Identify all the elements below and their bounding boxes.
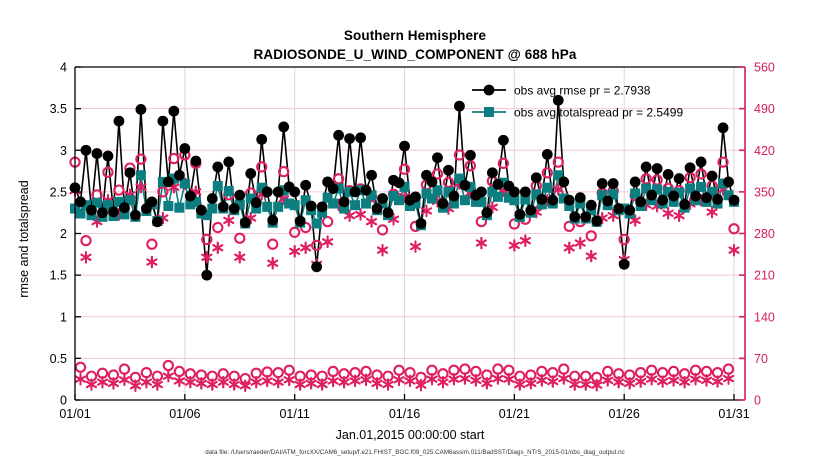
- y-tick-label-left: 3.5: [50, 102, 67, 116]
- marker-open-circle: [493, 364, 502, 373]
- marker-filled-square: [163, 201, 173, 211]
- marker-open-circle: [235, 234, 244, 243]
- marker-filled-circle: [657, 195, 668, 206]
- marker-filled-circle: [278, 122, 289, 133]
- marker-filled-circle: [674, 173, 685, 184]
- marker-filled-circle: [438, 198, 449, 209]
- y-tick-label-right: 490: [754, 102, 775, 116]
- marker-filled-circle: [481, 207, 492, 218]
- marker-filled-circle: [163, 176, 174, 187]
- marker-filled-circle: [108, 206, 119, 217]
- marker-open-circle: [76, 363, 85, 372]
- marker-filled-circle: [707, 171, 718, 182]
- marker-filled-circle: [465, 150, 476, 161]
- marker-open-circle: [147, 240, 156, 249]
- marker-filled-circle: [696, 157, 707, 168]
- marker-filled-circle: [410, 191, 421, 202]
- x-tick-label: 01/26: [609, 407, 640, 421]
- marker-filled-circle: [86, 205, 97, 216]
- y-tick-label-right: 70: [754, 352, 768, 366]
- marker-filled-circle: [81, 145, 92, 156]
- marker-filled-circle: [328, 183, 339, 194]
- marker-filled-circle: [218, 201, 229, 212]
- marker-open-circle: [466, 161, 475, 170]
- marker-open-circle: [274, 368, 283, 377]
- marker-filled-circle: [564, 195, 575, 206]
- marker-filled-square: [273, 202, 283, 212]
- marker-open-circle: [175, 367, 184, 376]
- marker-filled-circle: [663, 169, 674, 180]
- marker-filled-circle: [157, 116, 168, 127]
- marker-filled-circle: [569, 211, 580, 222]
- marker-filled-square: [328, 199, 338, 209]
- marker-filled-circle: [130, 210, 141, 221]
- x-tick-label: 01/21: [499, 407, 530, 421]
- y-tick-label-right: 0: [754, 394, 761, 408]
- marker-filled-circle: [498, 135, 509, 146]
- marker-filled-square: [224, 186, 234, 196]
- marker-filled-circle: [547, 195, 558, 206]
- marker-open-circle: [103, 168, 112, 177]
- marker-filled-circle: [372, 203, 383, 214]
- marker-filled-circle: [317, 201, 328, 212]
- marker-filled-circle: [355, 132, 366, 143]
- marker-filled-circle: [416, 218, 427, 229]
- marker-filled-circle: [311, 261, 322, 272]
- marker-filled-circle: [492, 179, 503, 190]
- marker-open-circle: [394, 366, 403, 375]
- marker-filled-circle: [201, 270, 212, 281]
- marker-filled-circle: [344, 133, 355, 144]
- marker-open-circle: [642, 174, 651, 183]
- marker-filled-square: [213, 181, 223, 191]
- marker-filled-circle: [245, 168, 256, 179]
- marker-filled-circle: [575, 192, 586, 203]
- marker-open-circle: [323, 217, 332, 226]
- marker-filled-circle: [361, 185, 372, 196]
- data-file-footer: data file: /Users/raeder/DAI/ATM_forcXX/…: [0, 449, 830, 456]
- marker-open-circle: [213, 223, 222, 232]
- marker-filled-circle: [723, 176, 734, 187]
- marker-open-circle: [543, 168, 552, 177]
- marker-filled-circle: [679, 199, 690, 210]
- marker-open-circle: [685, 173, 694, 182]
- marker-filled-circle: [718, 122, 729, 133]
- marker-filled-circle: [207, 193, 218, 204]
- marker-filled-circle: [701, 192, 712, 203]
- legend-label-totalspread: obs avg totalspread pr = 2.5499: [514, 106, 683, 120]
- y-tick-label-right: 350: [754, 185, 775, 199]
- marker-filled-square: [136, 170, 146, 180]
- marker-filled-circle: [580, 211, 591, 222]
- y-tick-label-right: 560: [754, 61, 775, 75]
- marker-filled-circle: [427, 176, 438, 187]
- x-tick-label: 01/01: [59, 407, 90, 421]
- marker-filled-circle: [597, 178, 608, 189]
- marker-open-circle: [81, 236, 90, 245]
- marker-filled-square: [460, 195, 470, 205]
- marker-filled-circle: [300, 180, 311, 191]
- x-axis-label: Jan.01,2015 00:00:00 start: [0, 428, 820, 442]
- marker-filled-circle: [75, 196, 86, 207]
- marker-filled-circle: [377, 193, 388, 204]
- marker-filled-circle: [729, 195, 740, 206]
- marker-filled-circle: [635, 196, 646, 207]
- marker-filled-square: [493, 192, 503, 202]
- marker-filled-circle: [608, 178, 619, 189]
- marker-filled-circle: [306, 201, 317, 212]
- y-tick-label-right: 280: [754, 227, 775, 241]
- marker-filled-square: [174, 203, 184, 213]
- y-tick-label-left: 2.5: [50, 185, 67, 199]
- marker-filled-circle: [223, 157, 234, 168]
- marker-filled-square: [207, 204, 217, 214]
- marker-open-circle: [120, 364, 129, 373]
- marker-filled-circle: [190, 156, 201, 167]
- marker-filled-circle: [339, 196, 350, 207]
- marker-open-circle: [142, 368, 151, 377]
- marker-filled-square: [484, 107, 494, 117]
- marker-filled-square: [394, 195, 404, 205]
- marker-filled-circle: [366, 170, 377, 181]
- marker-filled-circle: [520, 186, 531, 197]
- marker-filled-circle: [234, 190, 245, 201]
- marker-filled-circle: [668, 191, 679, 202]
- marker-filled-circle: [196, 205, 207, 216]
- marker-filled-square: [312, 219, 322, 229]
- y-tick-label-left: 0.5: [50, 352, 67, 366]
- legend-label-rmse: obs avg rmse pr = 2.7938: [514, 84, 651, 98]
- marker-filled-circle: [399, 141, 410, 152]
- x-tick-label: 01/16: [389, 407, 420, 421]
- marker-open-circle: [312, 241, 321, 250]
- marker-filled-circle: [350, 186, 361, 197]
- marker-filled-circle: [630, 176, 641, 187]
- marker-filled-circle: [514, 209, 525, 220]
- marker-filled-circle: [240, 217, 251, 228]
- plot-area: 00.511.522.533.5407014021028035042049056…: [0, 0, 830, 470]
- marker-open-circle: [559, 364, 568, 373]
- marker-filled-circle: [289, 186, 300, 197]
- marker-filled-circle: [484, 85, 495, 96]
- y-axis-left-label: rmse and totalspread: [17, 129, 31, 349]
- marker-filled-circle: [454, 101, 465, 112]
- marker-filled-circle: [251, 197, 262, 208]
- marker-filled-circle: [624, 205, 635, 216]
- marker-filled-circle: [103, 151, 114, 162]
- y-tick-label-right: 140: [754, 310, 775, 324]
- marker-filled-circle: [97, 207, 108, 218]
- x-tick-label: 01/11: [279, 407, 309, 421]
- marker-filled-circle: [174, 170, 185, 181]
- marker-filled-circle: [125, 167, 136, 178]
- y-tick-label-left: 1: [60, 310, 67, 324]
- marker-filled-circle: [591, 216, 602, 227]
- marker-open-circle: [724, 364, 733, 373]
- y-tick-label-right: 210: [754, 269, 775, 283]
- marker-filled-circle: [295, 216, 306, 227]
- y-tick-label-left: 4: [60, 61, 67, 75]
- marker-filled-circle: [613, 203, 624, 214]
- marker-filled-circle: [152, 216, 163, 227]
- x-tick-label: 01/06: [169, 407, 200, 421]
- marker-filled-circle: [525, 205, 536, 216]
- marker-filled-square: [696, 182, 706, 192]
- marker-filled-square: [350, 200, 360, 210]
- marker-filled-circle: [685, 162, 696, 173]
- marker-filled-circle: [267, 215, 278, 226]
- marker-filled-square: [262, 202, 272, 212]
- marker-filled-circle: [619, 259, 630, 270]
- marker-filled-circle: [652, 163, 663, 174]
- marker-open-circle: [653, 175, 662, 184]
- marker-filled-circle: [383, 207, 394, 218]
- marker-filled-circle: [432, 152, 443, 163]
- marker-filled-circle: [212, 162, 223, 173]
- marker-filled-circle: [712, 194, 723, 205]
- marker-open-circle: [114, 185, 123, 194]
- marker-filled-circle: [168, 106, 179, 117]
- marker-filled-circle: [476, 186, 487, 197]
- marker-open-circle: [587, 231, 596, 240]
- marker-filled-circle: [602, 196, 613, 207]
- marker-filled-square: [290, 200, 300, 210]
- marker-filled-circle: [460, 180, 471, 191]
- marker-filled-circle: [536, 194, 547, 205]
- y-tick-label-left: 3: [60, 144, 67, 158]
- marker-filled-circle: [146, 196, 157, 207]
- marker-open-circle: [460, 364, 469, 373]
- marker-filled-circle: [262, 186, 273, 197]
- marker-open-circle: [285, 366, 294, 375]
- marker-filled-circle: [229, 203, 240, 214]
- marker-filled-circle: [179, 143, 190, 154]
- marker-open-circle: [329, 367, 338, 376]
- marker-open-circle: [164, 361, 173, 370]
- marker-filled-circle: [646, 190, 657, 201]
- marker-filled-square: [542, 183, 552, 193]
- y-tick-label-left: 1.5: [50, 269, 67, 283]
- marker-filled-circle: [443, 165, 454, 176]
- marker-filled-circle: [136, 104, 147, 115]
- marker-filled-circle: [641, 162, 652, 173]
- marker-filled-circle: [449, 191, 460, 202]
- marker-filled-circle: [509, 186, 520, 197]
- marker-filled-circle: [586, 200, 597, 211]
- y-tick-label-left: 2: [60, 227, 67, 241]
- marker-open-circle: [696, 169, 705, 178]
- y-tick-label-left: 0: [60, 394, 67, 408]
- marker-filled-circle: [558, 176, 569, 187]
- marker-filled-circle: [487, 167, 498, 178]
- figure-canvas: Southern Hemisphere RADIOSONDE_U_WIND_CO…: [0, 0, 830, 470]
- marker-filled-circle: [119, 202, 130, 213]
- marker-filled-circle: [114, 116, 125, 127]
- marker-filled-circle: [333, 130, 344, 141]
- marker-filled-circle: [531, 172, 542, 183]
- marker-filled-circle: [92, 148, 103, 159]
- marker-filled-circle: [273, 186, 284, 197]
- marker-filled-circle: [185, 191, 196, 202]
- y-tick-label-right: 420: [754, 144, 775, 158]
- x-tick-label: 01/31: [718, 407, 749, 421]
- marker-filled-circle: [690, 191, 701, 202]
- marker-filled-circle: [256, 134, 267, 145]
- marker-filled-circle: [394, 177, 405, 188]
- marker-open-circle: [268, 240, 277, 249]
- legend: obs avg rmse pr = 2.7938obs avg totalspr…: [472, 84, 683, 120]
- marker-filled-circle: [542, 149, 553, 160]
